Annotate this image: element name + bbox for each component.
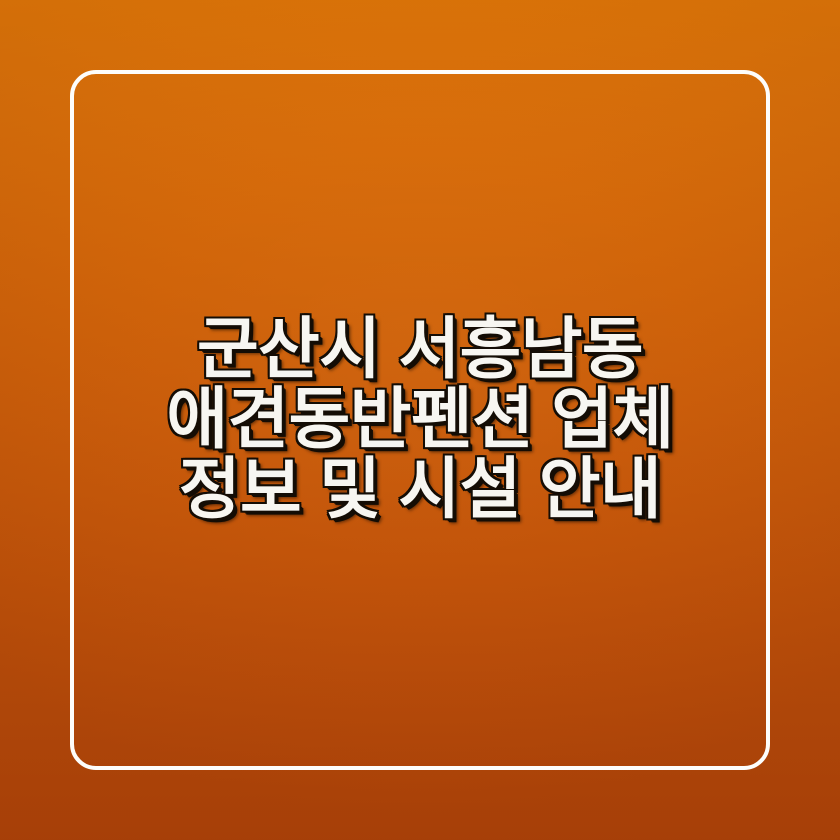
title-card: 군산시 서흥남동 애견동반펜션 업체 정보 및 시설 안내 [0,0,840,840]
headline-block: 군산시 서흥남동 애견동반펜션 업체 정보 및 시설 안내 [0,0,840,840]
headline-line-3: 정보 및 시설 안내 [86,455,754,525]
headline-line-1: 군산시 서흥남동 [86,315,754,385]
headline-line-2: 애견동반펜션 업체 [86,385,754,455]
